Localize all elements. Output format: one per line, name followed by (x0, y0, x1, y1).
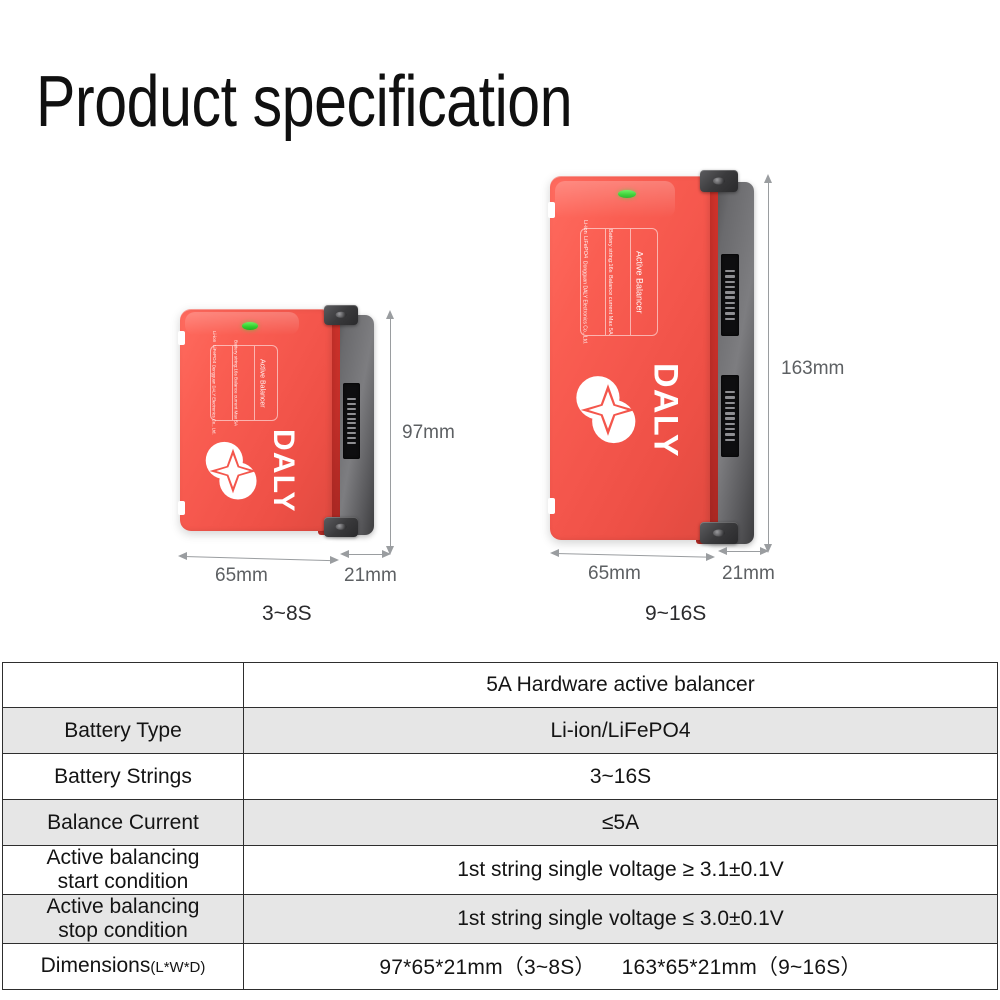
table-cell-key-line1: Active balancing (7, 846, 239, 870)
product-illustration-stage: Active Balancer Battery string:16s Balan… (0, 150, 1000, 650)
connector-pin (347, 422, 357, 424)
status-led-icon (618, 190, 636, 198)
label-spec-line: Battery string:16s (606, 229, 613, 273)
connector-pin (347, 442, 357, 444)
connector-pin (725, 302, 735, 304)
table-cell-key: Dimensions(L*W*D) (3, 943, 244, 989)
table-cell-value: 1st string single voltage ≤ 3.0±0.1V (244, 894, 998, 943)
daly-wordmark: DALY (268, 429, 298, 513)
label-chemistry: LiFePO4 (581, 236, 588, 258)
mounting-tab (324, 305, 358, 325)
connector-pin (725, 423, 735, 425)
connector-pin (725, 281, 735, 283)
table-row: Dimensions(L*W*D) 97*65*21mm（3~8S）163*65… (3, 943, 998, 989)
connector-pin (347, 403, 357, 405)
edge-notch (178, 331, 185, 345)
screw-hole-icon (713, 529, 725, 536)
table-row: Battery Type Li-ion/LiFePO4 (3, 708, 998, 754)
daly-mark-icon (202, 440, 264, 502)
enclosure-small: Active Balancer Battery string:16s Balan… (180, 309, 332, 531)
connector-pin (725, 428, 735, 430)
table-cell-value: 97*65*21mm（3~8S）163*65*21mm（9~16S） (244, 943, 998, 989)
table-row: Active balancing start condition 1st str… (3, 846, 998, 895)
connector-pin (725, 433, 735, 435)
daly-logo-large: DALY (572, 362, 690, 458)
screw-hole-icon (336, 524, 347, 530)
balance-connector-large-upper (721, 254, 739, 336)
daly-mark-icon (572, 374, 644, 446)
dimension-value-small: 97*65*21mm（3~8S） (379, 956, 595, 979)
dim-arrow-right (330, 556, 339, 564)
dim-label-height-small: 97mm (402, 422, 455, 444)
connector-pin (725, 286, 735, 288)
table-cell-key: Battery Strings (3, 754, 244, 800)
dim-label-width-small: 65mm (215, 565, 268, 587)
table-cell-value: 3~16S (244, 754, 998, 800)
table-cell-key: Battery Type (3, 708, 244, 754)
product-large-9-16s: Active Balancer Battery string:16s Balan… (548, 170, 768, 560)
model-caption-small: 3~8S (262, 602, 312, 626)
dim-arrow-up (764, 174, 772, 183)
model-caption-large: 9~16S (645, 602, 706, 626)
label-chemistry: Li-ion (211, 331, 217, 342)
dim-arrow-right (760, 547, 769, 555)
table-cell-value: ≤5A (244, 800, 998, 846)
connector-pin (725, 439, 735, 441)
status-led-icon (242, 322, 258, 330)
table-row: 5A Hardware active balancer (3, 663, 998, 708)
table-cell-key: Active balancing stop condition (3, 894, 244, 943)
connector-pin (725, 296, 735, 298)
dim-label-depth-small: 21mm (344, 565, 397, 587)
label-title: Active Balancer (257, 359, 266, 408)
product-label-large: Active Balancer Battery string:16s Balan… (580, 228, 658, 336)
dim-arrow-right (706, 553, 715, 561)
table-cell-key-main: Dimensions (41, 954, 151, 977)
dim-line-height-large (768, 180, 769, 546)
label-spec-line: Battery string:16s (233, 340, 239, 376)
daly-wordmark: DALY (649, 363, 683, 458)
table-cell-value: 5A Hardware active balancer (244, 663, 998, 708)
table-cell-key: Active balancing start condition (3, 846, 244, 895)
screw-hole-icon (713, 177, 725, 184)
table-cell-key (3, 663, 244, 708)
specification-table: 5A Hardware active balancer Battery Type… (2, 662, 998, 990)
table-cell-value: Li-ion/LiFePO4 (244, 708, 998, 754)
connector-pin (725, 407, 735, 409)
dim-arrow-up (386, 310, 394, 319)
dim-line-height-small (390, 316, 391, 548)
connector-pin (725, 312, 735, 314)
mounting-tab (324, 517, 358, 537)
daly-logo-small: DALY (202, 431, 306, 511)
connector-pin (347, 398, 357, 400)
table-row: Active balancing stop condition 1st stri… (3, 894, 998, 943)
connector-pin (725, 318, 735, 320)
connector-pin (347, 413, 357, 415)
table-row: Balance Current ≤5A (3, 800, 998, 846)
connector-pin (725, 275, 735, 277)
table-cell-key-line1: Active balancing (7, 895, 239, 919)
table-cell-key-paren: (L*W*D) (150, 959, 205, 976)
connector-pin (347, 432, 357, 434)
edge-notch (548, 498, 555, 514)
table-cell-key-line2: start condition (7, 870, 239, 894)
label-company: Dongguan DALY Electronics Co., Ltd. (581, 261, 587, 344)
balance-connector-large-lower (721, 375, 739, 457)
table-row: Battery Strings 3~16S (3, 754, 998, 800)
screw-hole-icon (336, 312, 347, 318)
label-title: Active Balancer (633, 251, 644, 314)
table-cell-key: Balance Current (3, 800, 244, 846)
connector-pin (725, 417, 735, 419)
dim-arrow-left (718, 547, 727, 555)
product-label-small: Active Balancer Battery string:16s Balan… (210, 345, 278, 421)
balance-connector-small (343, 383, 360, 459)
dim-arrow-right (382, 550, 391, 558)
connector-pin (347, 437, 357, 439)
dim-label-height-large: 163mm (781, 358, 844, 380)
mounting-tab (700, 170, 738, 192)
edge-notch (548, 202, 555, 218)
connector-pin (725, 391, 735, 393)
dim-line-depth-small (344, 554, 386, 555)
dim-line-depth-large (722, 551, 764, 552)
label-chemistry: LiFePO4 (211, 345, 217, 363)
dim-label-depth-large: 21mm (722, 563, 775, 585)
dim-arrow-left (178, 552, 187, 560)
connector-pin (347, 408, 357, 410)
connector-pin (725, 396, 735, 398)
connector-pin (725, 291, 735, 293)
dim-line-width-small (184, 556, 336, 561)
page-title: Product specification (36, 66, 572, 138)
label-company: Dongguan DALY Electronics Co., Ltd. (211, 365, 216, 435)
enclosure-large: Active Balancer Battery string:16s Balan… (550, 176, 710, 540)
table-cell-key-line2: stop condition (7, 919, 239, 943)
table-cell-value: 1st string single voltage ≥ 3.1±0.1V (244, 846, 998, 895)
connector-pin (347, 427, 357, 429)
connector-pin (725, 402, 735, 404)
label-spec-line: Balance current Max 5A (233, 377, 239, 426)
connector-pin (725, 412, 735, 414)
connector-pin (725, 307, 735, 309)
connector-pin (725, 270, 735, 272)
dimension-value-large: 163*65*21mm（9~16S） (622, 956, 862, 979)
label-spec-line: Balance current Max 5A (606, 275, 613, 335)
label-chemistry: Li-ion (581, 220, 588, 234)
mounting-tab (700, 522, 738, 544)
dim-arrow-left (340, 550, 349, 558)
dim-arrow-left (550, 549, 559, 557)
edge-notch (178, 501, 185, 515)
connector-pin (347, 418, 357, 420)
dim-label-width-large: 65mm (588, 563, 641, 585)
product-small-3-8s: Active Balancer Battery string:16s Balan… (178, 305, 388, 545)
